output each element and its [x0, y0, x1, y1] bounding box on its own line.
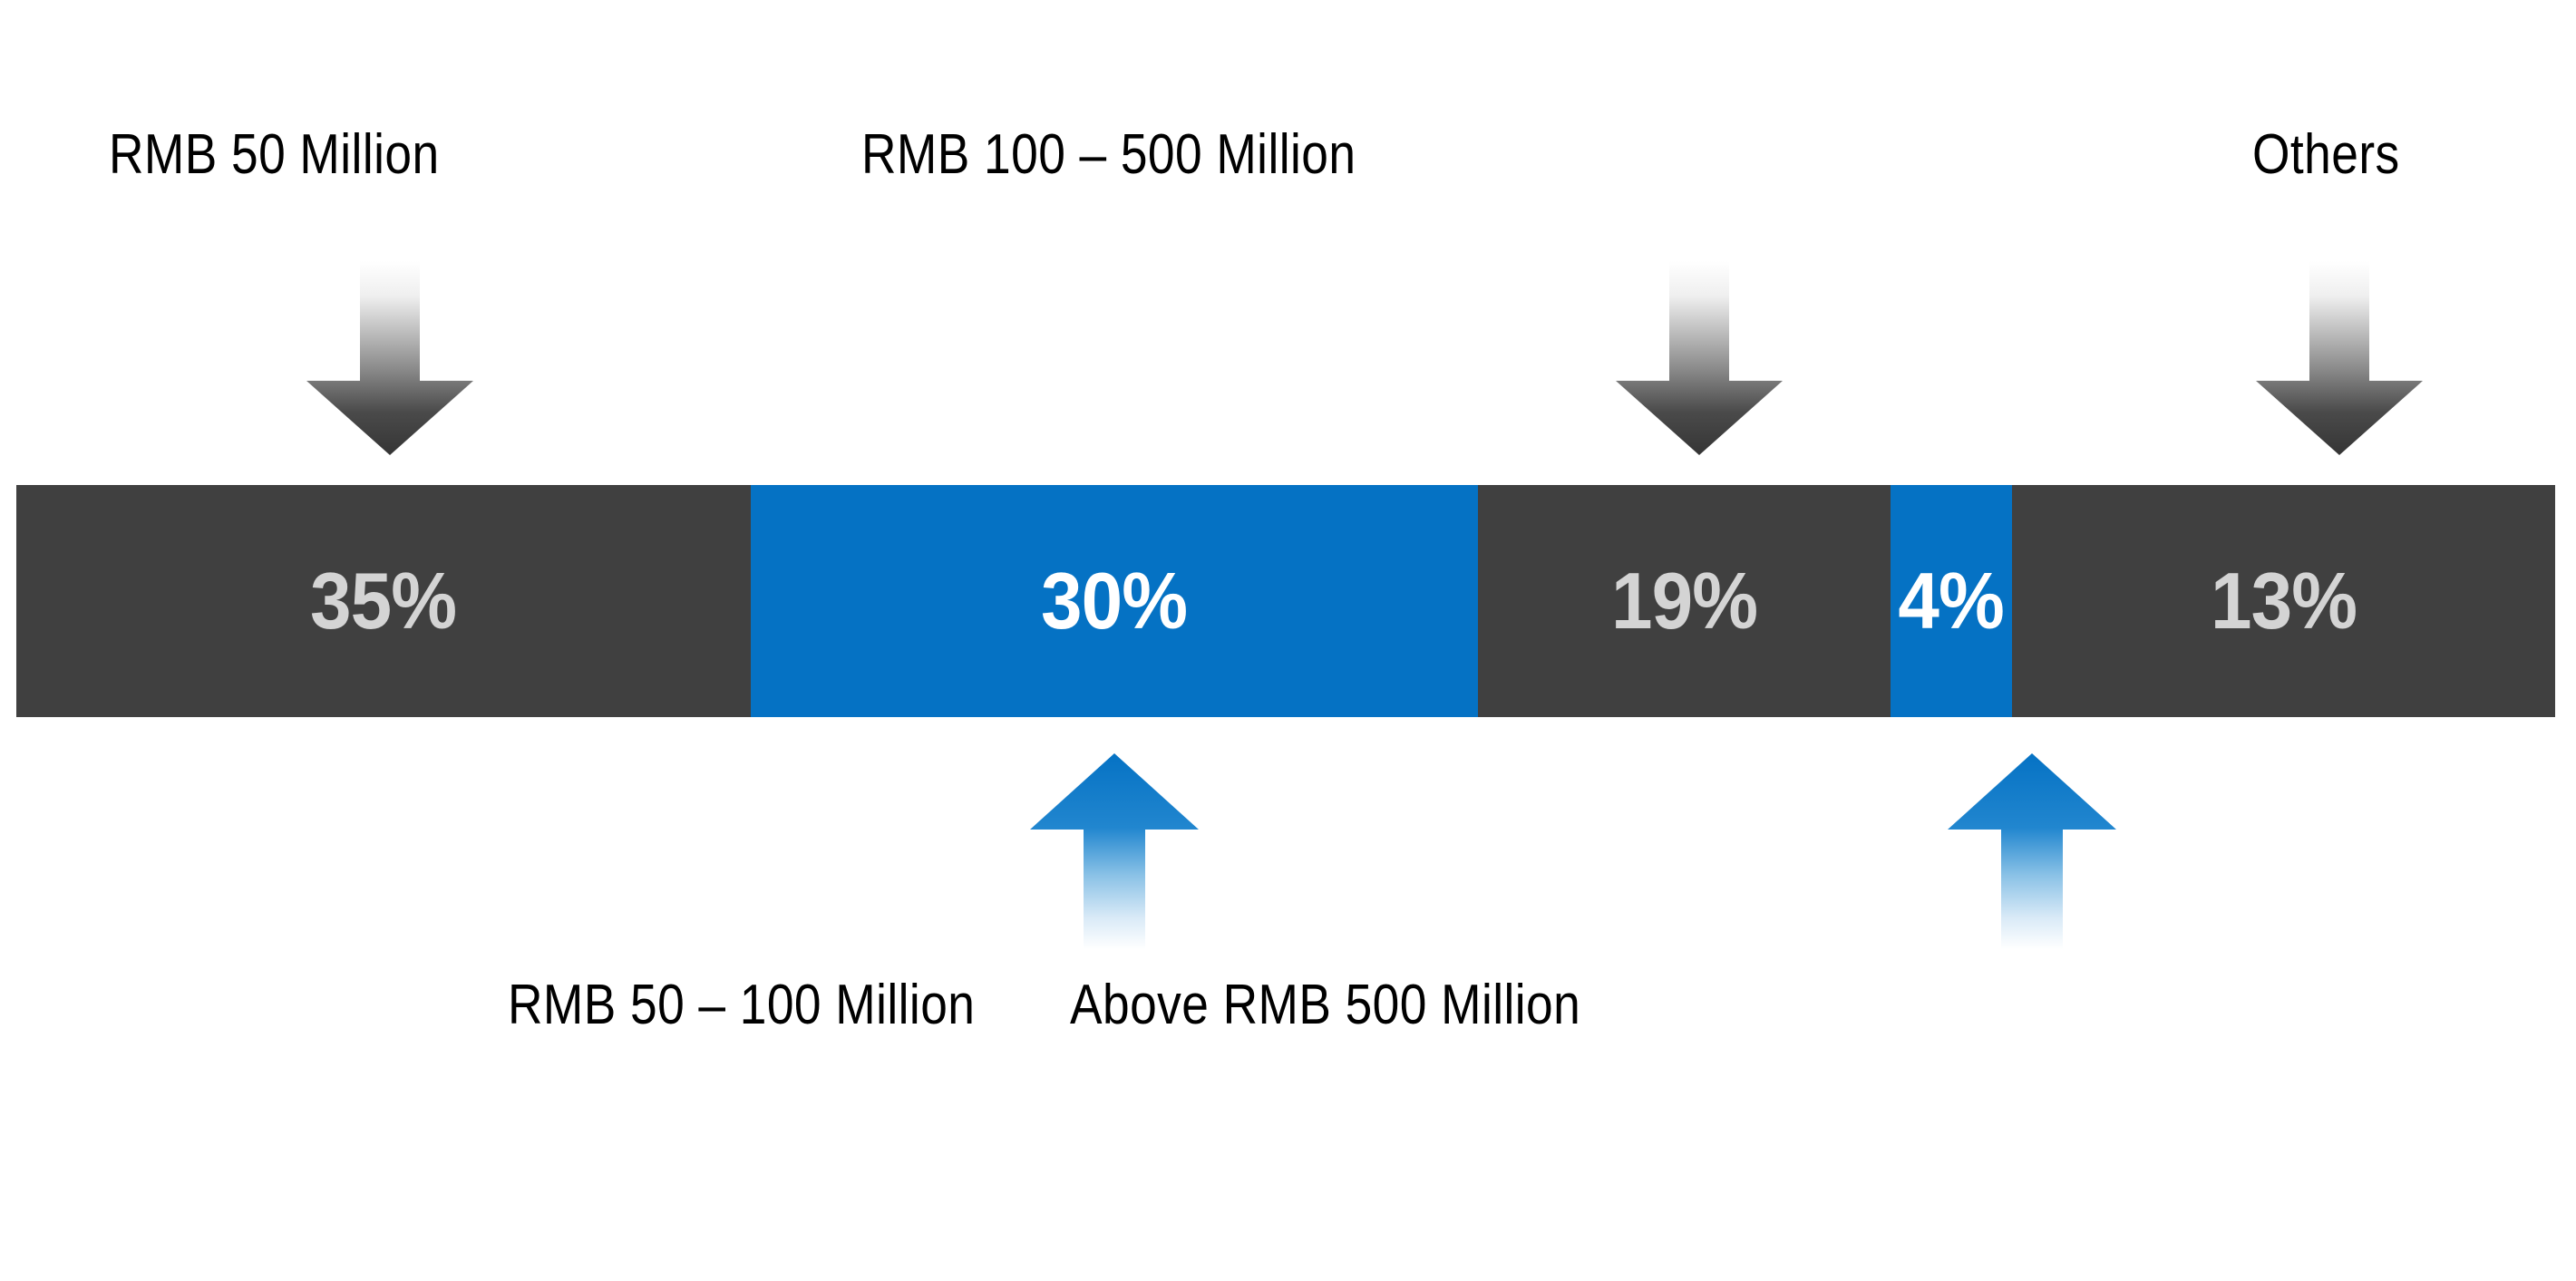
bar-segment-value: 19% — [1611, 561, 1757, 641]
arrow-up-icon — [1030, 753, 1199, 949]
stacked-bar: 35% 30% 19% 4% 13% — [16, 485, 2555, 717]
callout-label-rmb-50-100-million: RMB 50 – 100 Million — [508, 977, 975, 1034]
callout-label-rmb-100-500-million: RMB 100 – 500 Million — [861, 127, 1356, 183]
arrow-down-icon — [1616, 261, 1783, 455]
arrow-up-icon — [1948, 753, 2116, 949]
bar-segment-rmb-100-500m[interactable]: 19% — [1478, 485, 1891, 717]
bar-segment-others[interactable]: 13% — [2012, 485, 2555, 717]
arrow-down-icon — [306, 261, 473, 455]
infographic-canvas: RMB 50 Million RMB 100 – 500 Million Oth… — [0, 0, 2576, 1281]
bar-segment-value: 30% — [1041, 561, 1187, 641]
callout-label-others: Others — [2252, 127, 2400, 183]
bar-segment-rmb-50-100m[interactable]: 30% — [751, 485, 1478, 717]
bar-segment-value: 13% — [2211, 561, 2357, 641]
bar-segment-value: 35% — [310, 561, 456, 641]
bar-segment-rmb-50m[interactable]: 35% — [16, 485, 751, 717]
bar-segment-value: 4% — [1899, 561, 2004, 641]
arrow-down-icon — [2256, 261, 2423, 455]
callout-label-above-rmb-500-million: Above RMB 500 Million — [1070, 977, 1580, 1034]
bar-segment-above-rmb-500m[interactable]: 4% — [1891, 485, 2012, 717]
callout-label-rmb-50-million: RMB 50 Million — [109, 127, 440, 183]
